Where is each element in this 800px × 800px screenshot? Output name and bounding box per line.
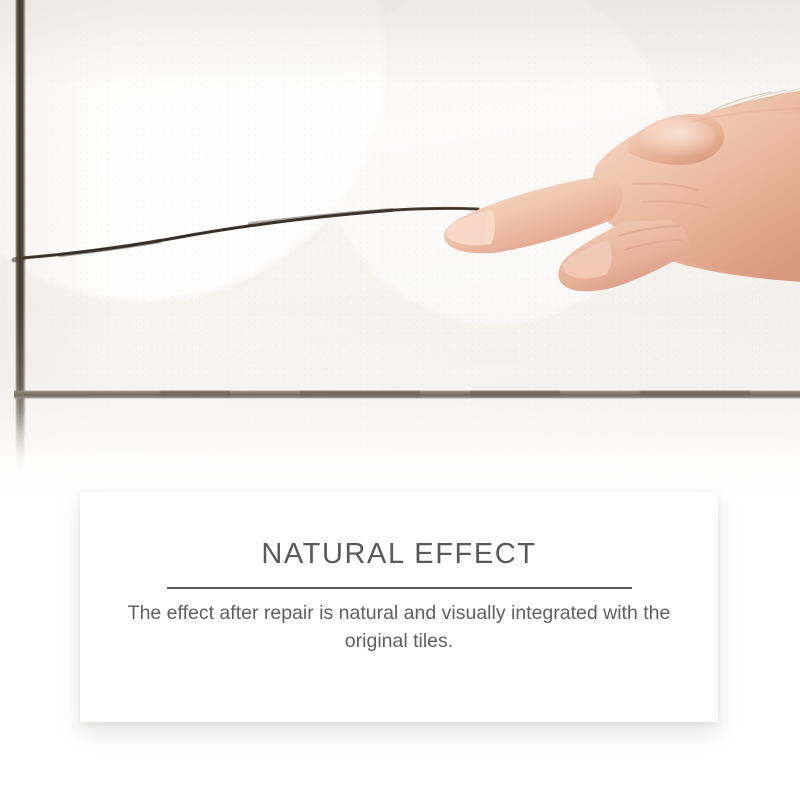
pointing-hand	[392, 72, 800, 332]
card-title: NATURAL EFFECT	[80, 538, 718, 571]
page-canvas: NATURAL EFFECT The effect after repair i…	[0, 0, 800, 800]
info-card: NATURAL EFFECT The effect after repair i…	[80, 492, 718, 722]
card-divider	[167, 587, 632, 589]
product-photo	[0, 0, 800, 500]
photo-bottom-fade	[0, 300, 800, 500]
card-body-text: The effect after repair is natural and v…	[104, 600, 694, 655]
